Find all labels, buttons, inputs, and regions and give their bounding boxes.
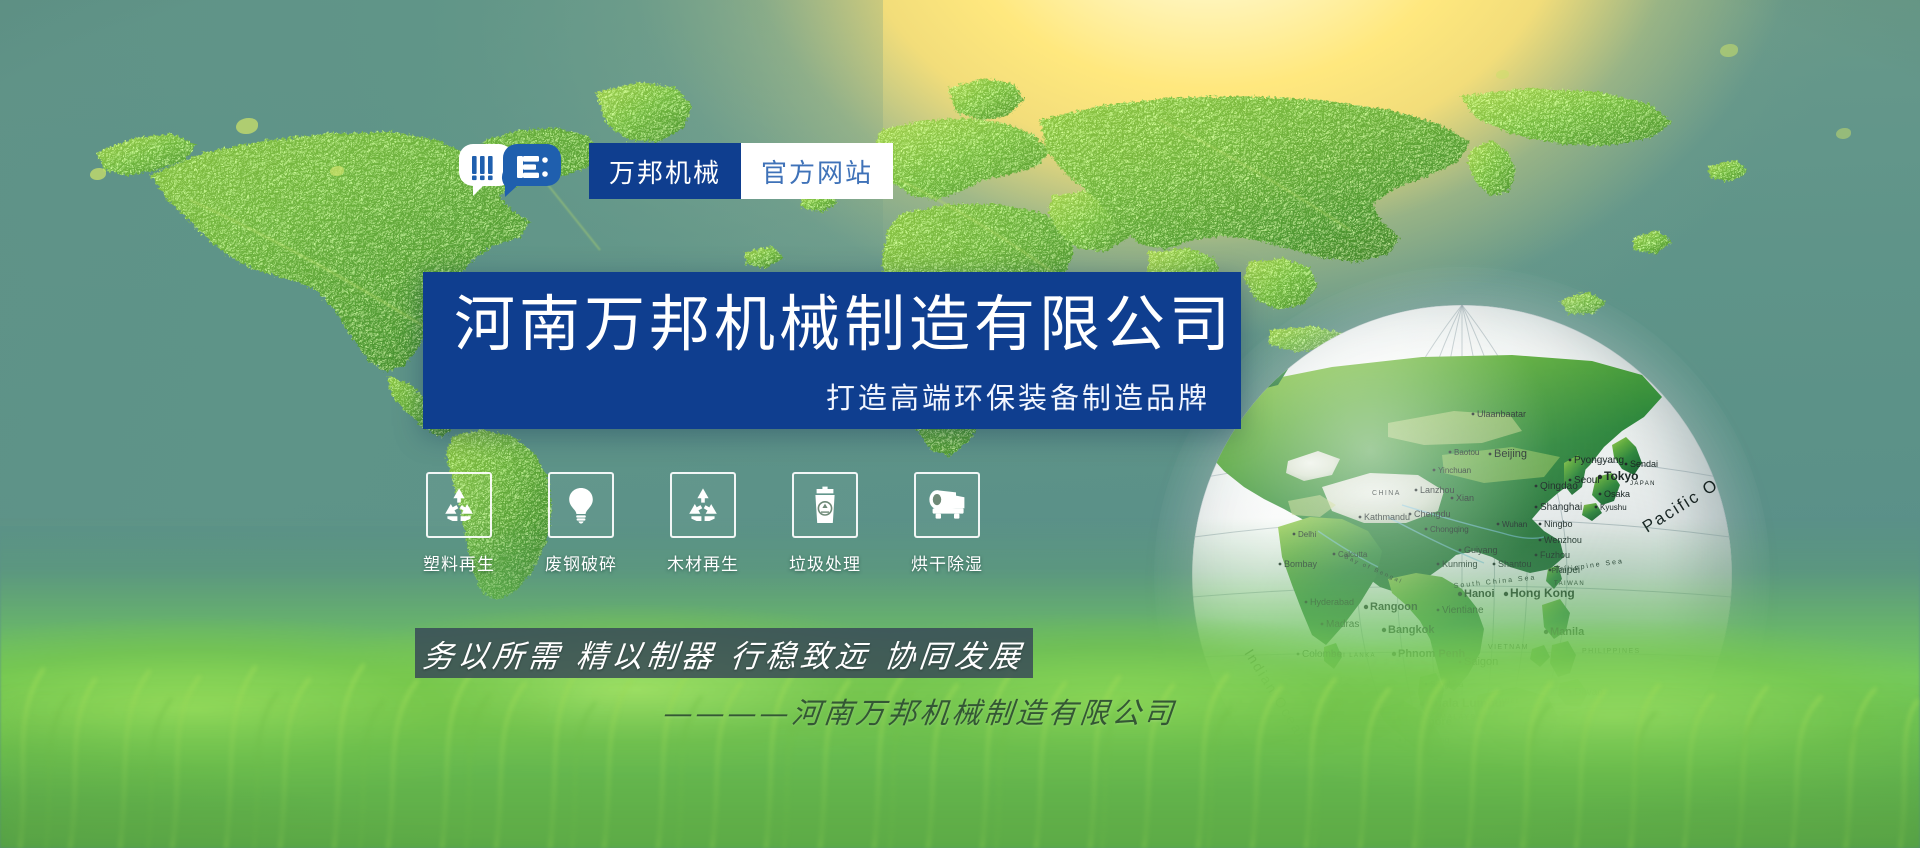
- feature-plastic-recycling[interactable]: 塑料再生: [418, 472, 500, 575]
- feature-icon-row: 塑料再生 废钢破碎: [418, 472, 988, 575]
- recycle-icon: [670, 472, 736, 538]
- site-header: 万邦机械 官方网站: [455, 143, 893, 199]
- feature-scrap-steel-crushing[interactable]: 废钢破碎: [540, 472, 622, 575]
- hero-banner: UlaanbaatarBeijingBaotouYinchuanLanzhouX…: [0, 0, 1920, 848]
- tab-official-website[interactable]: 官方网站: [741, 143, 893, 199]
- page-title: 河南万邦机械制造有限公司: [454, 288, 1234, 362]
- feature-waste-treatment[interactable]: 垃圾处理: [784, 472, 866, 575]
- slogan-banner: 务以所需 精以制器 行稳致远 协同发展: [415, 628, 1033, 678]
- wanbang-logo-icon[interactable]: [455, 144, 561, 198]
- trash-bin-icon: [792, 472, 858, 538]
- feature-label: 木材再生: [667, 550, 739, 575]
- feature-label: 垃圾处理: [789, 550, 861, 575]
- feature-label: 烘干除湿: [911, 550, 983, 575]
- page-subtitle: 打造高端环保装备制造品牌: [826, 375, 1210, 417]
- slogan-text: 务以所需 精以制器 行稳致远 协同发展: [421, 631, 1027, 676]
- feature-label: 废钢破碎: [545, 550, 617, 575]
- dryer-icon: [914, 472, 980, 538]
- feature-wood-recycling[interactable]: 木材再生: [662, 472, 744, 575]
- tab-wanbang-machinery[interactable]: 万邦机械: [589, 143, 741, 199]
- recycle-icon: [426, 472, 492, 538]
- hero-title-block: 河南万邦机械制造有限公司 打造高端环保装备制造品牌: [423, 272, 1241, 429]
- feature-label: 塑料再生: [423, 550, 495, 575]
- lightbulb-icon: [548, 472, 614, 538]
- feature-drying-dehumidifying[interactable]: 烘干除湿: [906, 472, 988, 575]
- slogan-signature: ————河南万邦机械制造有限公司: [638, 690, 1202, 732]
- header-nav-tabs: 万邦机械 官方网站: [589, 143, 893, 199]
